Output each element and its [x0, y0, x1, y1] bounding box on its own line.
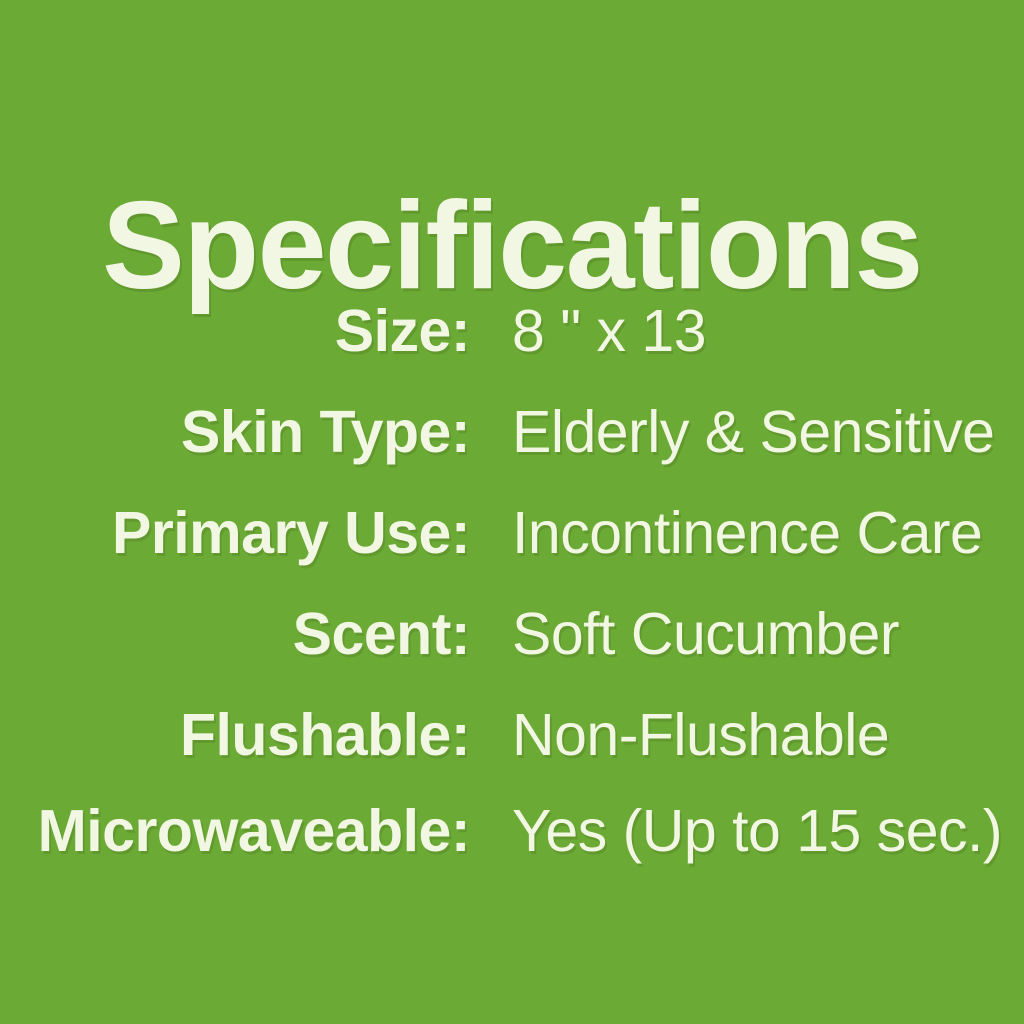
spec-row-primary-use: Primary Use: Incontinence Care	[0, 498, 1024, 599]
specifications-card: Specifications Size: 8 " x 13 Skin Type:…	[0, 0, 1024, 1024]
spec-label-flushable: Flushable:	[0, 700, 470, 770]
spec-value-flushable: Non-Flushable	[512, 700, 889, 770]
spec-row-scent: Scent: Soft Cucumber	[0, 599, 1024, 700]
spec-value-microwaveable: Yes (Up to 15 sec.)	[512, 796, 1002, 866]
spec-value-scent: Soft Cucumber	[512, 599, 899, 669]
spec-value-primary-use: Incontinence Care	[512, 498, 982, 568]
spec-label-scent: Scent:	[0, 599, 470, 669]
specifications-table: Size: 8 " x 13 Skin Type: Elderly & Sens…	[0, 296, 1024, 892]
spec-value-size: 8 " x 13	[512, 296, 706, 366]
spec-row-flushable: Flushable: Non-Flushable	[0, 700, 1024, 796]
spec-label-skin-type: Skin Type:	[0, 397, 470, 467]
spec-value-skin-type: Elderly & Sensitive	[512, 397, 994, 467]
page-title: Specifications	[0, 184, 1024, 308]
spec-label-size: Size:	[0, 296, 470, 366]
spec-row-microwaveable: Microwaveable: Yes (Up to 15 sec.)	[0, 796, 1024, 892]
spec-row-skin-type: Skin Type: Elderly & Sensitive	[0, 397, 1024, 498]
spec-label-primary-use: Primary Use:	[0, 498, 470, 568]
spec-label-microwaveable: Microwaveable:	[0, 796, 470, 866]
spec-row-size: Size: 8 " x 13	[0, 296, 1024, 397]
